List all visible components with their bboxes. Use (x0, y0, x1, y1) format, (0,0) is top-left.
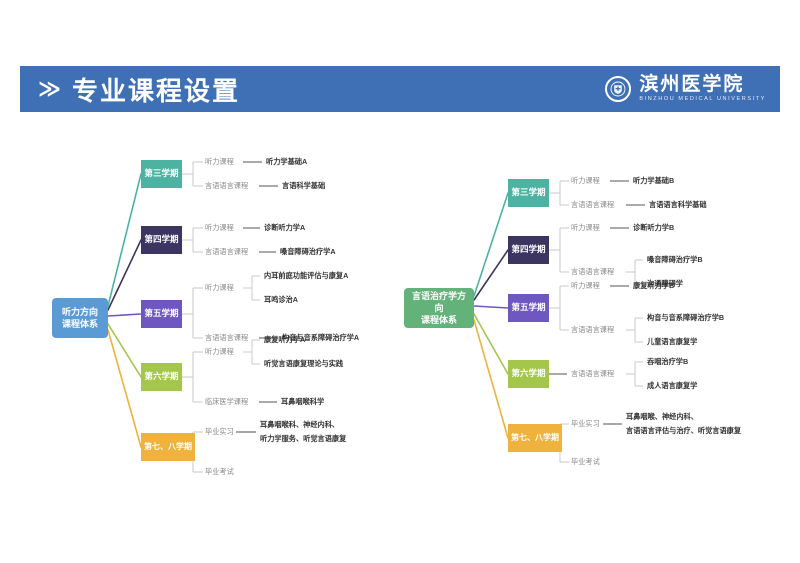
left-s6-category-clinical: 临床医学课程 (205, 397, 248, 407)
right-root-label: 言语治疗学方向 课程体系 (410, 290, 468, 326)
left-root-line1: 听力方向 (62, 307, 98, 317)
right-s4-category-hearing: 听力课程 (571, 223, 600, 233)
left-s5-category-hearing: 听力课程 (205, 283, 234, 293)
left-s4-category-hearing: 听力课程 (205, 223, 234, 233)
left-course-L3c1: 听力学基础A (266, 157, 307, 167)
right-s3-category-speech: 言语语言课程 (571, 200, 614, 210)
left-s4-category-speech: 言语语言课程 (205, 247, 248, 257)
right-s3-category-hearing: 听力课程 (571, 176, 600, 186)
right-course-R4c2: 嗓音障碍治疗学B (647, 255, 703, 265)
left-s3-category-speech: 言语语言课程 (205, 181, 248, 191)
right-semester-4[interactable]: 第四学期 (508, 236, 549, 264)
left-s5-category-speech: 言语语言课程 (205, 333, 248, 343)
right-course-R3c2: 言语语言科学基础 (649, 200, 707, 210)
right-s5-category-hearing: 听力课程 (571, 281, 600, 291)
right-root-line2: 课程体系 (421, 315, 457, 325)
left-course-L4c2: 嗓音障碍治疗学A (280, 247, 336, 257)
right-course-R4c1: 诊断听力学B (633, 223, 674, 233)
left-semester-3[interactable]: 第三学期 (141, 160, 182, 188)
left-root-label: 听力方向 课程体系 (62, 306, 98, 330)
left-s78-category-intern: 毕业实习 (205, 427, 234, 437)
right-course-R5c3: 儿童语言康复学 (647, 337, 697, 347)
right-s5-category-speech: 言语语言课程 (571, 325, 614, 335)
right-root-line1: 言语治疗学方向 (412, 291, 466, 313)
left-semester-6[interactable]: 第六学期 (141, 363, 182, 391)
left-course-L5c2: 耳鸣诊治A (264, 295, 298, 305)
right-semester-6[interactable]: 第六学期 (508, 360, 549, 388)
university-name-cn: 滨州医学院 (639, 75, 766, 94)
left-course-L4c1: 诊断听力学A (264, 223, 305, 233)
mindmap-canvas: 听力方向 课程体系 第三学期 第四学期 第五学期 第六学期 第七、八学期 听力课… (0, 120, 800, 563)
page-title: 专业课程设置 (72, 71, 240, 108)
university-name-block: 滨州医学院 BINZHOU MEDICAL UNIVERSITY (639, 75, 766, 103)
left-s6-category-hearing: 听力课程 (205, 347, 234, 357)
right-s78-category-exam: 毕业考试 (571, 457, 600, 467)
chevron-double-right-icon: ≫ (38, 78, 58, 100)
left-root-line2: 课程体系 (62, 319, 98, 329)
right-course-R3c1: 听力学基础B (633, 176, 674, 186)
left-root-node[interactable]: 听力方向 课程体系 (52, 298, 108, 338)
right-root-node[interactable]: 言语治疗学方向 课程体系 (404, 288, 474, 328)
left-course-L6c2: 听觉言语康复理论与实践 (264, 359, 343, 369)
slide-root: ≫ 专业课程设置 滨州医学院 BINZHOU MEDICAL UNIVERSIT… (0, 0, 800, 563)
left-course-L78c1-line1: 耳鼻咽喉科、神经内科、 (260, 420, 339, 430)
left-s78-category-exam: 毕业考试 (205, 467, 234, 477)
left-s3-category-hearing: 听力课程 (205, 157, 234, 167)
right-course-R5c1: 康复听力学B (633, 281, 674, 291)
left-course-L78c1-line2: 听力学服务、听觉言语康复 (260, 434, 346, 444)
right-course-R78c1-line1: 耳鼻咽喉、神经内科、 (626, 412, 698, 422)
left-semester-4[interactable]: 第四学期 (141, 226, 182, 254)
right-s6-category-speech: 言语语言课程 (571, 369, 614, 379)
left-semester-5[interactable]: 第五学期 (141, 300, 182, 328)
left-course-L5c1: 内耳前庭功能评估与康复A (264, 271, 348, 281)
right-s4-category-speech: 言语语言课程 (571, 267, 614, 277)
left-course-L6c1: 康复听力学A (264, 335, 305, 345)
left-semester-7-8[interactable]: 第七、八学期 (141, 433, 195, 461)
right-course-R6c1: 吞咽治疗学B (647, 357, 688, 367)
university-name-en: BINZHOU MEDICAL UNIVERSITY (639, 97, 766, 103)
university-seal-icon (605, 76, 631, 102)
header-bar: ≫ 专业课程设置 滨州医学院 BINZHOU MEDICAL UNIVERSIT… (20, 66, 780, 112)
right-s78-category-intern: 毕业实习 (571, 419, 600, 429)
left-course-L6c3: 耳鼻咽喉科学 (281, 397, 324, 407)
right-course-R6c2: 成人语言康复学 (647, 381, 697, 391)
right-semester-7-8[interactable]: 第七、八学期 (508, 424, 562, 452)
university-logo: 滨州医学院 BINZHOU MEDICAL UNIVERSITY (605, 75, 766, 103)
right-course-R78c1-line2: 言语语言评估与治疗、听觉言语康复 (626, 426, 741, 436)
right-semester-3[interactable]: 第三学期 (508, 179, 549, 207)
right-course-R5c2: 构音与音系障碍治疗学B (647, 313, 724, 323)
left-course-L3c2: 言语科学基础 (282, 181, 325, 191)
right-semester-5[interactable]: 第五学期 (508, 294, 549, 322)
